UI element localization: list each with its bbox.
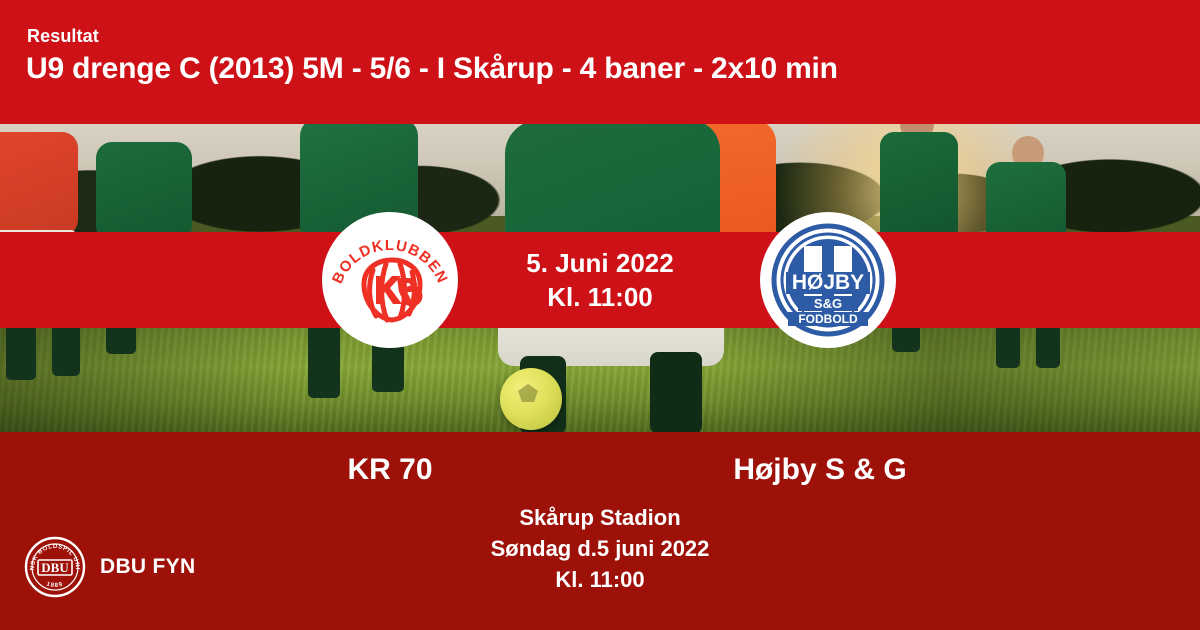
- dbu-fyn-label: DBU FYN: [100, 555, 195, 579]
- venue-details: Skårup Stadion Søndag d.5 juni 2022 Kl. …: [400, 502, 800, 596]
- svg-text:1889: 1889: [45, 581, 64, 589]
- team-names-row: KR 70 Højby S & G: [0, 446, 1200, 494]
- venue-date: Søndag d.5 juni 2022: [400, 533, 800, 564]
- date-banner: 5. Juni 2022 Kl. 11:00: [0, 232, 1200, 328]
- header-kicker: Resultat: [27, 26, 99, 47]
- dbu-fyn-lockup: DANSK BOLDSPIL UNION 1889 DBU DBU FYN: [24, 536, 195, 598]
- kr70-monogram-icon: [356, 254, 428, 326]
- away-team-name: Højby S & G: [650, 446, 990, 494]
- match-time: Kl. 11:00: [547, 282, 653, 313]
- page-title: U9 drenge C (2013) 5M - 5/6 - I Skårup -…: [26, 52, 838, 86]
- hojby-crest-icon: HØJBY S&G FODBOLD: [770, 222, 886, 338]
- match-result-poster: Resultat U9 drenge C (2013) 5M - 5/6 - I…: [0, 0, 1200, 630]
- home-club-crest: BOLDKLUBBEN: [322, 212, 458, 348]
- svg-text:HØJBY: HØJBY: [792, 271, 864, 294]
- home-team-name: KR 70: [220, 446, 560, 494]
- match-date: 5. Juni 2022: [526, 248, 673, 279]
- dbu-seal-icon: DANSK BOLDSPIL UNION 1889 DBU: [24, 536, 86, 598]
- poster-footer: KR 70 Højby S & G Skårup Stadion Søndag …: [0, 432, 1200, 630]
- football-icon: [500, 368, 562, 430]
- away-club-crest: HØJBY S&G FODBOLD: [760, 212, 896, 348]
- venue-time: Kl. 11:00: [400, 564, 800, 595]
- venue-stadium: Skårup Stadion: [400, 502, 800, 533]
- svg-text:S&G: S&G: [814, 296, 842, 311]
- poster-header: Resultat U9 drenge C (2013) 5M - 5/6 - I…: [0, 0, 1200, 124]
- svg-text:DBU: DBU: [41, 560, 69, 575]
- svg-text:FODBOLD: FODBOLD: [798, 312, 858, 326]
